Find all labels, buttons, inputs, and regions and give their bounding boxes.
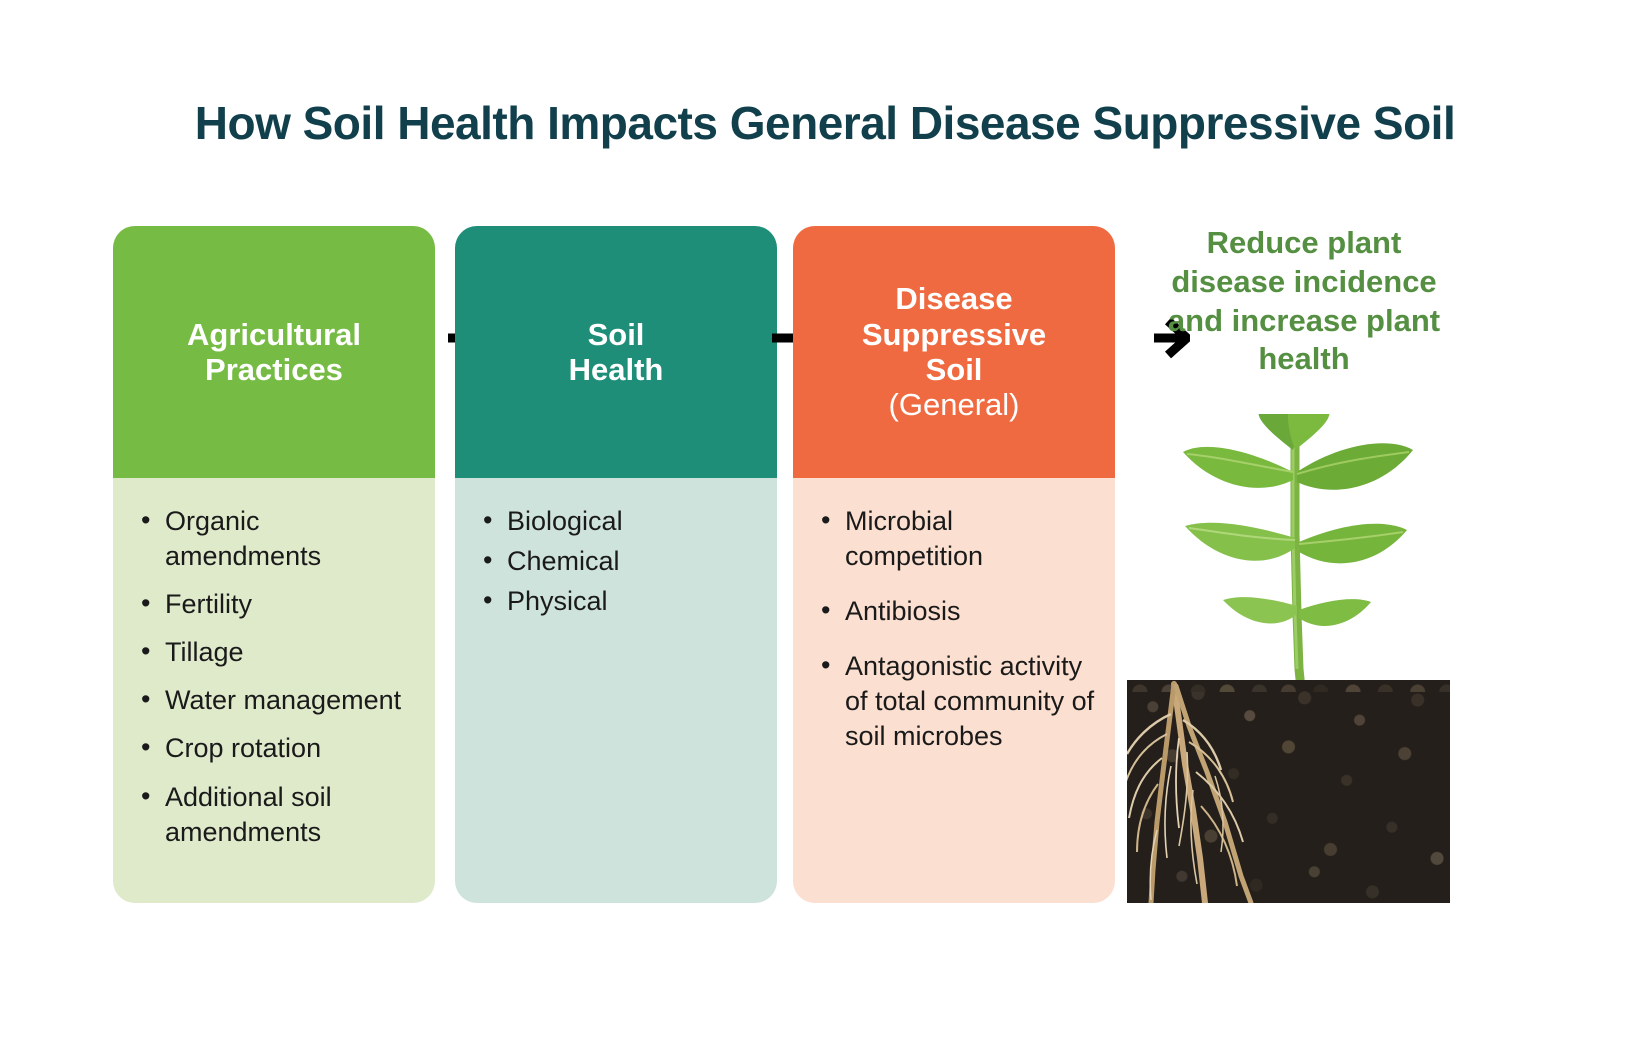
- list-item: Organic amendments: [139, 504, 417, 574]
- card-heading-line: Soil: [862, 352, 1046, 387]
- card-header-agricultural-practices: Agricultural Practices: [113, 226, 435, 478]
- list-item: Additional soil amendments: [139, 780, 417, 850]
- card-heading-line: Suppressive: [862, 317, 1046, 352]
- list-item: Tillage: [139, 635, 417, 670]
- card-body-disease-suppressive-soil: Microbial competition Antibiosis Antagon…: [793, 478, 1115, 903]
- list-item: Crop rotation: [139, 731, 417, 766]
- card-body-agricultural-practices: Organic amendments Fertility Tillage Wat…: [113, 478, 435, 903]
- bullet-list-soil-health: Biological Chemical Physical: [481, 504, 759, 619]
- page-title: How Soil Health Impacts General Disease …: [0, 96, 1650, 150]
- outcome-text: Reduce plant disease incidence and incre…: [1158, 224, 1450, 379]
- column-card-soil-health: Soil Health Biological Chemical Physical: [455, 226, 777, 903]
- bullet-list-disease-suppressive-soil: Microbial competition Antibiosis Antagon…: [819, 504, 1097, 755]
- card-header-disease-suppressive-soil: Disease Suppressive Soil (General): [793, 226, 1115, 478]
- card-heading-line: Agricultural: [187, 317, 361, 352]
- list-item: Biological: [481, 504, 759, 539]
- list-item: Microbial competition: [819, 504, 1097, 574]
- column-card-disease-suppressive-soil: Disease Suppressive Soil (General) Micro…: [793, 226, 1115, 903]
- seedling-soil-photo: [1127, 414, 1450, 903]
- card-heading-line: Health: [569, 352, 664, 387]
- root-system-illustration: [1127, 680, 1450, 903]
- list-item: Physical: [481, 584, 759, 619]
- card-heading-subtitle: (General): [862, 387, 1046, 422]
- list-item: Antibiosis: [819, 594, 1097, 629]
- card-header-soil-health: Soil Health: [455, 226, 777, 478]
- column-card-agricultural-practices: Agricultural Practices Organic amendment…: [113, 226, 435, 903]
- infographic-canvas: How Soil Health Impacts General Disease …: [0, 0, 1650, 1060]
- list-item: Chemical: [481, 544, 759, 579]
- list-item: Antagonistic activity of total community…: [819, 649, 1097, 754]
- card-heading-line: Soil: [569, 317, 664, 352]
- list-item: Fertility: [139, 587, 417, 622]
- soil-layer: [1127, 680, 1450, 903]
- card-heading-line: Practices: [187, 352, 361, 387]
- list-item: Water management: [139, 683, 417, 718]
- card-body-soil-health: Biological Chemical Physical: [455, 478, 777, 903]
- bullet-list-agricultural-practices: Organic amendments Fertility Tillage Wat…: [139, 504, 417, 850]
- card-heading-line: Disease: [862, 281, 1046, 316]
